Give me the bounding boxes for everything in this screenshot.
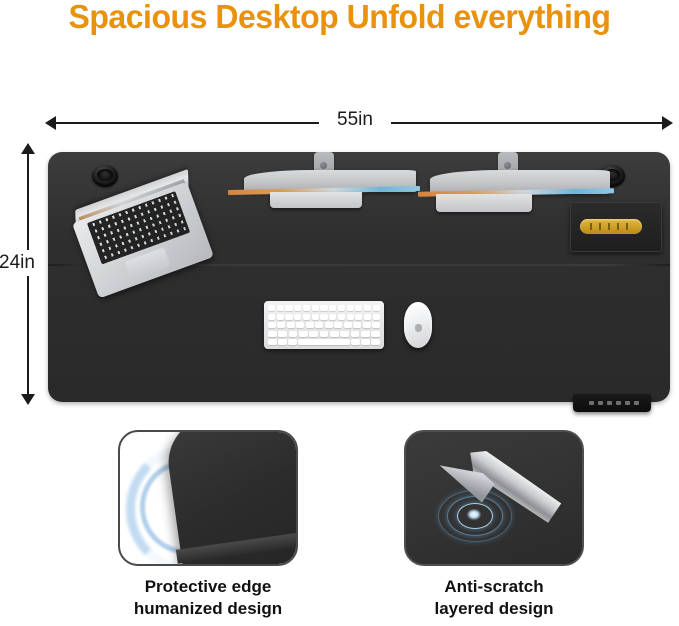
width-dimension-label: 55in	[319, 109, 391, 135]
monitor-right-base	[436, 194, 532, 212]
monitor-left-base	[270, 192, 362, 208]
feature-caption-anti-scratch: Anti-scratch layered design	[364, 576, 624, 620]
keypad-button[interactable]	[607, 401, 612, 405]
feature-card-anti-scratch	[404, 430, 584, 566]
keyboard-row	[268, 305, 380, 311]
apple-logo-icon	[415, 324, 422, 332]
infographic-root: Spacious Desktop Unfold everything 55in …	[0, 0, 679, 626]
depth-dimension-label: 24in	[0, 250, 36, 276]
arrow-down-icon	[21, 394, 35, 405]
arrow-up-icon	[21, 143, 35, 154]
keyboard-rows	[268, 305, 380, 345]
keypad-button[interactable]	[625, 401, 630, 405]
feature-card-protective-edge	[118, 430, 298, 566]
keypad-buttons[interactable]	[589, 401, 639, 405]
feature-caption-protective-edge: Protective edge humanized design	[78, 576, 338, 620]
keyboard-row	[268, 331, 380, 337]
laptop	[74, 178, 210, 288]
control-keypad[interactable]	[573, 394, 651, 412]
keypad-button[interactable]	[598, 401, 603, 405]
caption-line-1: Protective edge	[78, 576, 338, 598]
blade-knife-icon	[458, 446, 568, 526]
caption-line-2: humanized design	[78, 598, 338, 620]
keyboard-row	[268, 322, 380, 328]
keypad-button[interactable]	[616, 401, 621, 405]
page-title: Spacious Desktop Unfold everything	[10, 0, 669, 36]
mouse	[404, 302, 432, 348]
caption-line-1: Anti-scratch	[364, 576, 624, 598]
arrow-right-icon	[662, 116, 673, 130]
keyboard	[264, 301, 384, 349]
keypad-button[interactable]	[589, 401, 594, 405]
keyboard-row	[268, 314, 380, 320]
laptop-base	[72, 182, 214, 299]
caption-line-2: layered design	[364, 598, 624, 620]
power-strip	[570, 202, 662, 252]
keyboard-row-space	[268, 339, 380, 345]
width-dimension: 55in	[45, 115, 673, 131]
arrow-left-icon	[45, 116, 56, 130]
power-outlet-icon	[580, 219, 642, 234]
keypad-button[interactable]	[634, 401, 639, 405]
